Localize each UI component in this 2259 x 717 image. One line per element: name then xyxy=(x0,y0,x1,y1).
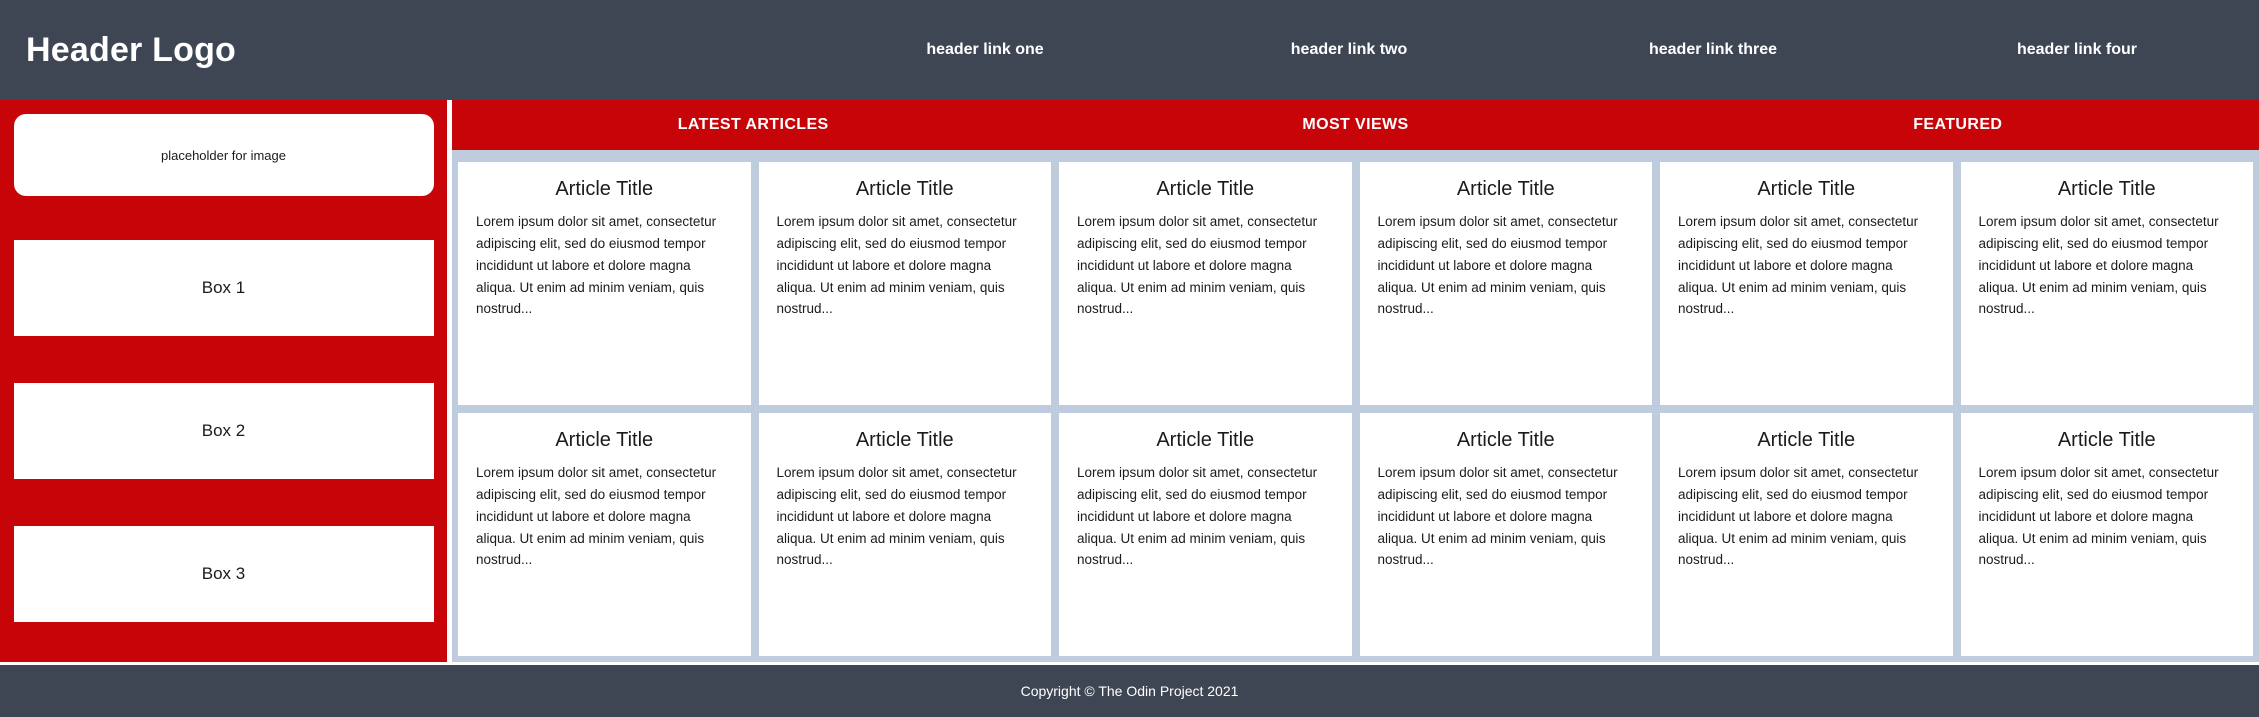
article-card-title: Article Title xyxy=(1678,178,1935,201)
tab-most-views[interactable]: MOST VIEWS xyxy=(1054,116,1656,134)
article-card[interactable]: Article Title Lorem ipsum dolor sit amet… xyxy=(1059,162,1352,405)
article-card-title: Article Title xyxy=(1678,429,1935,452)
article-card-body: Lorem ipsum dolor sit amet, consectetur … xyxy=(777,462,1034,571)
body-area: placeholder for image Box 1 Box 2 Box 3 … xyxy=(0,100,2259,665)
article-card[interactable]: Article Title Lorem ipsum dolor sit amet… xyxy=(1961,413,2254,656)
sidebar: placeholder for image Box 1 Box 2 Box 3 xyxy=(0,100,447,662)
site-footer: Copyright © The Odin Project 2021 xyxy=(0,665,2259,717)
article-card[interactable]: Article Title Lorem ipsum dolor sit amet… xyxy=(1961,162,2254,405)
tab-latest-articles[interactable]: LATEST ARTICLES xyxy=(452,116,1054,134)
article-card-title: Article Title xyxy=(1378,429,1635,452)
card-row: Article Title Lorem ipsum dolor sit amet… xyxy=(458,162,2253,405)
article-card-title: Article Title xyxy=(777,178,1034,201)
header-link-four[interactable]: header link four xyxy=(1895,41,2259,59)
article-card-title: Article Title xyxy=(777,429,1034,452)
section-tabbar: LATEST ARTICLES MOST VIEWS FEATURED xyxy=(452,100,2259,150)
sidebar-image-placeholder[interactable]: placeholder for image xyxy=(14,114,434,196)
article-card-title: Article Title xyxy=(476,429,733,452)
article-card-body: Lorem ipsum dolor sit amet, consectetur … xyxy=(1979,462,2236,571)
article-card-title: Article Title xyxy=(1077,429,1334,452)
header-link-two[interactable]: header link two xyxy=(1167,41,1531,59)
article-card[interactable]: Article Title Lorem ipsum dolor sit amet… xyxy=(1360,413,1653,656)
tab-featured[interactable]: FEATURED xyxy=(1657,116,2259,134)
article-card-body: Lorem ipsum dolor sit amet, consectetur … xyxy=(1077,211,1334,320)
card-row: Article Title Lorem ipsum dolor sit amet… xyxy=(458,413,2253,656)
article-card-title: Article Title xyxy=(1979,178,2236,201)
article-card[interactable]: Article Title Lorem ipsum dolor sit amet… xyxy=(759,162,1052,405)
article-card[interactable]: Article Title Lorem ipsum dolor sit amet… xyxy=(1660,413,1953,656)
footer-copyright: Copyright © The Odin Project 2021 xyxy=(1021,683,1239,699)
header-nav: header link one header link two header l… xyxy=(236,41,2259,59)
article-card-body: Lorem ipsum dolor sit amet, consectetur … xyxy=(1378,462,1635,571)
article-card-body: Lorem ipsum dolor sit amet, consectetur … xyxy=(1378,211,1635,320)
article-card[interactable]: Article Title Lorem ipsum dolor sit amet… xyxy=(1660,162,1953,405)
header-link-one[interactable]: header link one xyxy=(803,41,1167,59)
site-header: Header Logo header link one header link … xyxy=(0,0,2259,100)
article-card[interactable]: Article Title Lorem ipsum dolor sit amet… xyxy=(1360,162,1653,405)
article-card-body: Lorem ipsum dolor sit amet, consectetur … xyxy=(1678,462,1935,571)
article-card-title: Article Title xyxy=(1979,429,2236,452)
main-content: LATEST ARTICLES MOST VIEWS FEATURED Arti… xyxy=(452,100,2259,662)
article-card-title: Article Title xyxy=(476,178,733,201)
article-card[interactable]: Article Title Lorem ipsum dolor sit amet… xyxy=(759,413,1052,656)
article-card-body: Lorem ipsum dolor sit amet, consectetur … xyxy=(476,462,733,571)
article-card[interactable]: Article Title Lorem ipsum dolor sit amet… xyxy=(458,162,751,405)
article-card[interactable]: Article Title Lorem ipsum dolor sit amet… xyxy=(458,413,751,656)
article-card-body: Lorem ipsum dolor sit amet, consectetur … xyxy=(1077,462,1334,571)
page-root: Header Logo header link one header link … xyxy=(0,0,2259,717)
header-logo[interactable]: Header Logo xyxy=(26,31,236,70)
article-card[interactable]: Article Title Lorem ipsum dolor sit amet… xyxy=(1059,413,1352,656)
header-link-three[interactable]: header link three xyxy=(1531,41,1895,59)
article-card-body: Lorem ipsum dolor sit amet, consectetur … xyxy=(1678,211,1935,320)
article-cards-area: Article Title Lorem ipsum dolor sit amet… xyxy=(452,156,2259,662)
article-card-body: Lorem ipsum dolor sit amet, consectetur … xyxy=(777,211,1034,320)
sidebar-box-3[interactable]: Box 3 xyxy=(14,526,434,622)
article-card-body: Lorem ipsum dolor sit amet, consectetur … xyxy=(1979,211,2236,320)
article-card-body: Lorem ipsum dolor sit amet, consectetur … xyxy=(476,211,733,320)
article-card-title: Article Title xyxy=(1378,178,1635,201)
sidebar-box-1[interactable]: Box 1 xyxy=(14,240,434,336)
article-card-title: Article Title xyxy=(1077,178,1334,201)
sidebar-box-2[interactable]: Box 2 xyxy=(14,383,434,479)
